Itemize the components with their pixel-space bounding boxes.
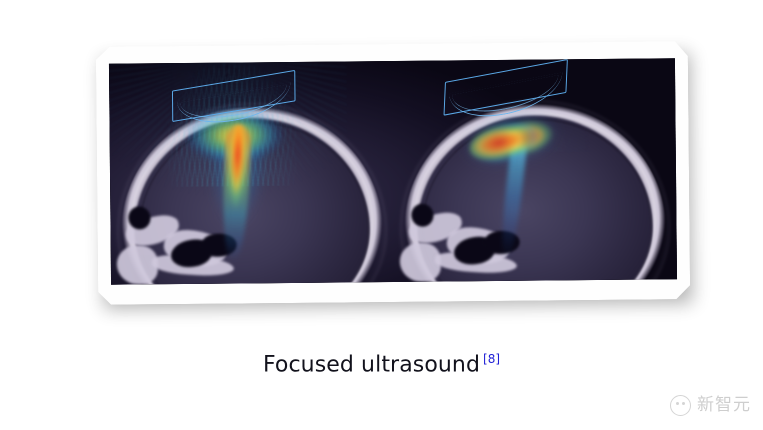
skull-base-right: [399, 201, 558, 282]
scan-canvas: [109, 58, 677, 284]
figure-caption: Focused ultrasound[8]: [0, 352, 763, 377]
photo-frame: [96, 41, 690, 305]
watermark-text: 新智元: [697, 397, 751, 414]
watermark: 新智元: [670, 395, 751, 416]
figure-stage: [0, 0, 763, 340]
caption-text: Focused ultrasound: [263, 352, 480, 377]
scan-panel-left: [109, 61, 394, 285]
watermark-logo-icon: [670, 395, 691, 416]
caption-citation[interactable]: [8]: [483, 352, 500, 366]
scan-panel-right: [392, 58, 677, 282]
